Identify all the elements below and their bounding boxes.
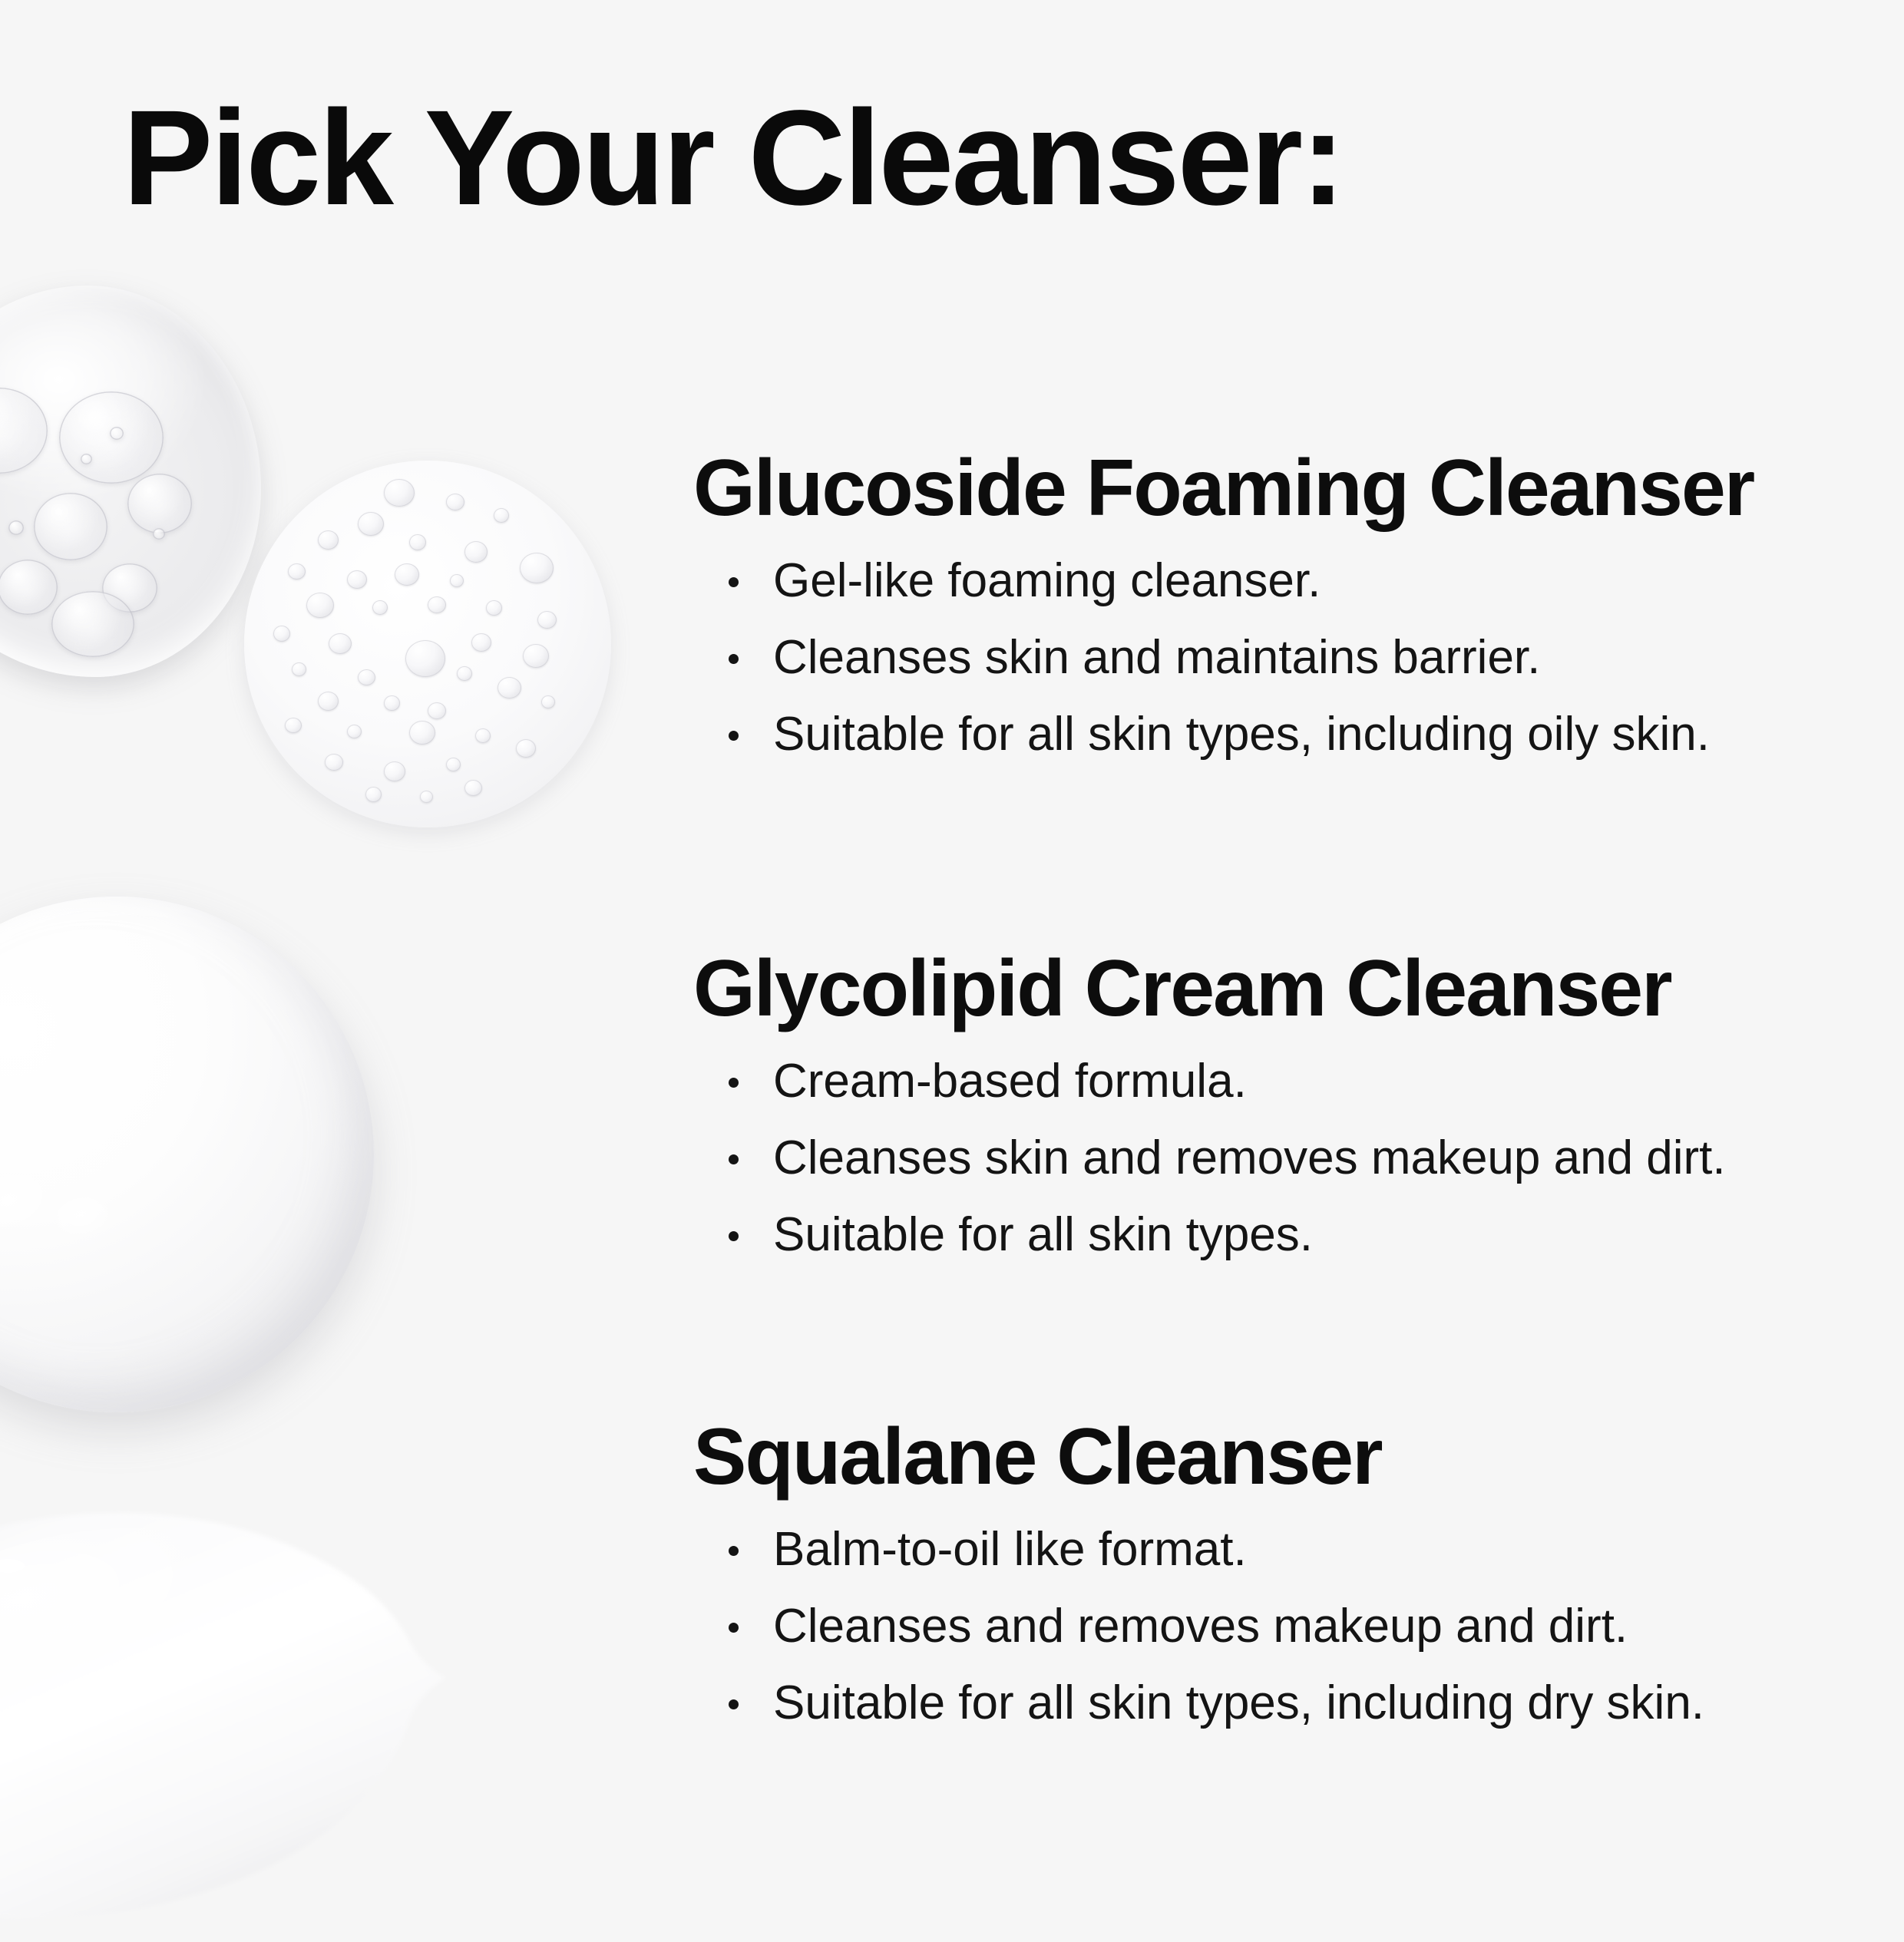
bullet-dot-icon [729, 731, 739, 741]
bullet-dot-icon [729, 577, 739, 587]
list-item-label: Suitable for all skin types, including d… [773, 1676, 1704, 1729]
product-title: Glycolipid Cream Cleanser [693, 946, 1845, 1032]
bullet-dot-icon [729, 1623, 739, 1633]
page-title: Pick Your Cleanser: [123, 91, 1344, 226]
product-section-squalane-cleanser: Squalane Cleanser Balm-to-oil like forma… [693, 1414, 1845, 1727]
list-item-label: Suitable for all skin types, including o… [773, 708, 1710, 761]
list-item: Cleanses skin and removes makeup and dir… [726, 1134, 1845, 1182]
list-item-label: Suitable for all skin types. [773, 1208, 1313, 1261]
list-item: Balm-to-oil like format. [726, 1526, 1845, 1574]
list-item: Cream-based formula. [726, 1058, 1845, 1105]
list-item: Suitable for all skin types. [726, 1211, 1845, 1259]
product-section-glycolipid-cream-cleanser: Glycolipid Cream Cleanser Cream-based fo… [693, 946, 1845, 1259]
product-title: Squalane Cleanser [693, 1414, 1845, 1500]
list-item: Cleanses skin and maintains barrier. [726, 634, 1845, 682]
balm-swipe-texture-icon [0, 1481, 583, 1942]
bullet-dot-icon [729, 654, 739, 664]
bullet-dot-icon [729, 1078, 739, 1088]
list-item: Cleanses and removes makeup and dirt. [726, 1603, 1845, 1650]
list-item-label: Balm-to-oil like format. [773, 1523, 1247, 1576]
cream-dollop-texture-icon [0, 897, 374, 1412]
gel-blob-texture-icon [0, 286, 261, 677]
foam-circle-texture-icon [244, 461, 611, 827]
list-item-label: Cleanses skin and removes makeup and dir… [773, 1131, 1726, 1184]
bullet-dot-icon [729, 1699, 739, 1709]
list-item: Suitable for all skin types, including d… [726, 1679, 1845, 1727]
list-item-label: Cream-based formula. [773, 1055, 1247, 1108]
list-item: Suitable for all skin types, including o… [726, 711, 1845, 758]
product-bullet-list: Gel-like foaming cleanser. Cleanses skin… [693, 557, 1845, 758]
bullet-dot-icon [729, 1546, 739, 1556]
bullet-dot-icon [729, 1154, 739, 1164]
list-item-label: Cleanses and removes makeup and dirt. [773, 1600, 1628, 1653]
list-item: Gel-like foaming cleanser. [726, 557, 1845, 605]
product-bullet-list: Cream-based formula. Cleanses skin and r… [693, 1058, 1845, 1259]
product-title: Glucoside Foaming Cleanser [693, 445, 1845, 531]
list-item-label: Cleanses skin and maintains barrier. [773, 631, 1540, 684]
product-section-glucoside-foaming-cleanser: Glucoside Foaming Cleanser Gel-like foam… [693, 445, 1845, 758]
product-bullet-list: Balm-to-oil like format. Cleanses and re… [693, 1526, 1845, 1727]
list-item-label: Gel-like foaming cleanser. [773, 554, 1321, 607]
bullet-dot-icon [729, 1231, 739, 1241]
